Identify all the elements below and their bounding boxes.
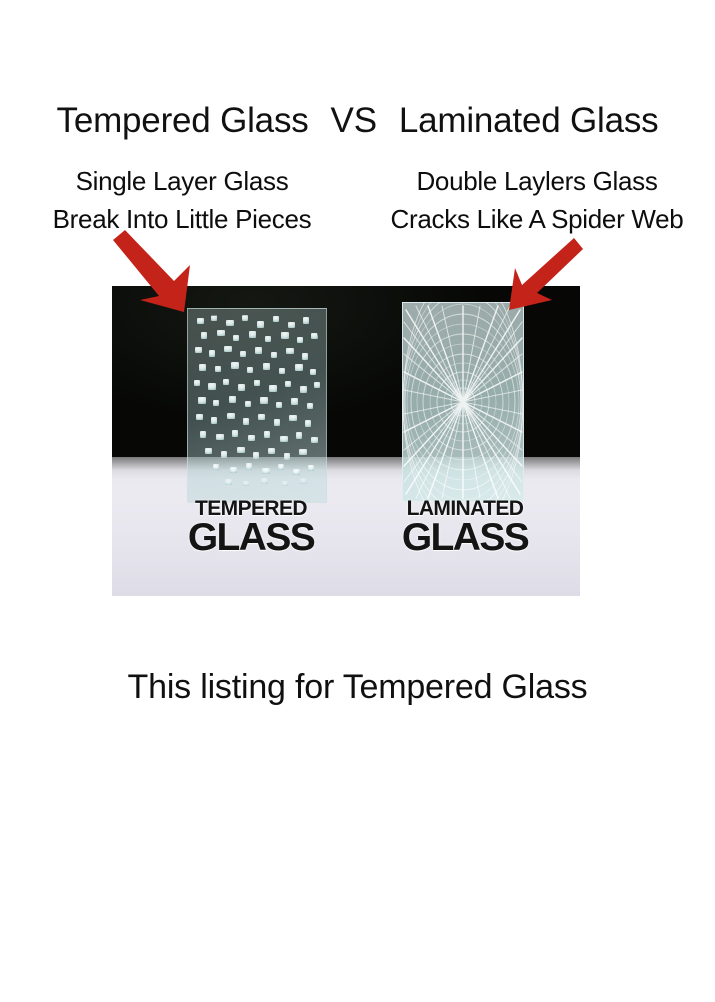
caption-left-line-1: Single Layer Glass	[4, 165, 360, 198]
tempered-glass-panel	[187, 308, 327, 503]
infographic-page: Tempered GlassVSLaminated Glass Single L…	[0, 0, 715, 1002]
title-vs-separator: VS	[331, 101, 377, 140]
caption-left-line-2: Break Into Little Pieces	[4, 203, 360, 236]
title-left-type: Tempered Glass	[57, 101, 309, 140]
title-right-type: Laminated Glass	[399, 101, 659, 140]
caption-column-laminated: Double Laylers Glass Cracks Like A Spide…	[359, 165, 715, 235]
caption-right-line-1: Double Laylers Glass	[359, 165, 715, 198]
photo-label-tempered: TEMPERED GLASS	[156, 498, 346, 558]
comparison-photo: TEMPERED GLASS LAMINATED GLASS	[112, 286, 580, 596]
photo-label-tempered-big: GLASS	[156, 518, 346, 558]
tempered-shatter-granules-icon	[187, 308, 327, 503]
caption-right-line-2: Cracks Like A Spider Web	[359, 203, 715, 236]
caption-column-tempered: Single Layer Glass Break Into Little Pie…	[4, 165, 360, 235]
laminated-glass-panel	[402, 302, 524, 502]
listing-note: This listing for Tempered Glass	[0, 668, 715, 707]
photo-label-laminated-big: GLASS	[370, 518, 560, 558]
laminated-spider-web-cracks-icon	[402, 302, 524, 502]
page-title: Tempered GlassVSLaminated Glass	[0, 103, 715, 140]
caption-row: Single Layer Glass Break Into Little Pie…	[0, 165, 715, 245]
photo-label-row: TEMPERED GLASS LAMINATED GLASS	[112, 498, 580, 578]
photo-label-laminated: LAMINATED GLASS	[370, 498, 560, 558]
